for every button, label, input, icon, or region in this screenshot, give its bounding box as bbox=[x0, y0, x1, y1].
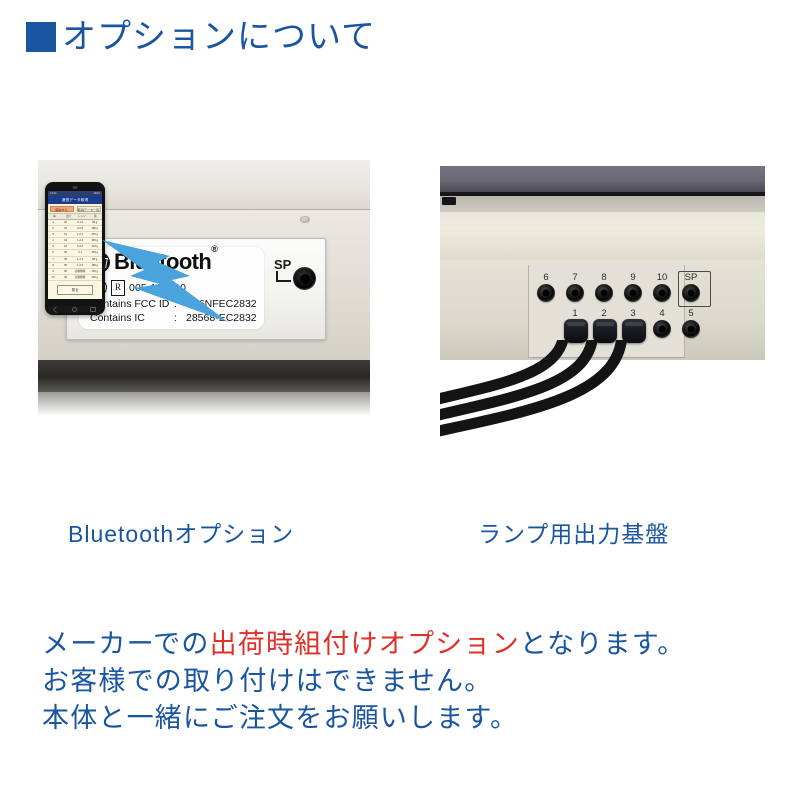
output-board-panel: 6 7 8 9 10 bbox=[528, 265, 685, 358]
phone-table-cell: 0-1.0 bbox=[73, 220, 88, 225]
caption-bluetooth-option: Bluetoothオプション bbox=[68, 515, 294, 549]
jack-7-label: 7 bbox=[564, 273, 586, 283]
jack-3[interactable]: 3 bbox=[622, 309, 644, 343]
phone-table-cell: 166 g bbox=[87, 275, 102, 280]
phone-home-nav-icon[interactable] bbox=[72, 307, 78, 313]
jack-5-hole-icon[interactable] bbox=[682, 320, 700, 338]
phone-table-cell: 自動解除 bbox=[73, 269, 88, 274]
phone-table-cell: 253 g bbox=[87, 250, 102, 255]
sp-jack-icon bbox=[293, 267, 316, 290]
jack-3-label: 3 bbox=[622, 309, 644, 319]
ic-value: 28568-EC2832 bbox=[186, 312, 257, 324]
jack-9-hole-icon[interactable] bbox=[624, 284, 642, 302]
phone-table-cell: 185 g bbox=[87, 263, 102, 268]
jack-8-hole-icon[interactable] bbox=[595, 284, 613, 302]
phone-recents-nav-icon[interactable] bbox=[90, 307, 96, 313]
jack-8-label: 8 bbox=[593, 273, 615, 283]
machine-top-bar bbox=[440, 166, 765, 192]
phone-table-cell: 04 bbox=[58, 226, 73, 231]
phone-table-cell: 自動解除 bbox=[73, 275, 88, 280]
phone-back-nav-icon[interactable] bbox=[53, 306, 59, 312]
phone-table-cell: 366 g bbox=[87, 238, 102, 243]
bluetooth-front-panel: Bluetooth® R 005-103090 Contains FCC ID:… bbox=[66, 238, 326, 340]
note-line-1: メーカーでの出荷時組付けオプションとなります。 bbox=[42, 626, 772, 663]
phone-table-cell: 05 bbox=[58, 250, 73, 255]
jack-6[interactable]: 6 bbox=[535, 273, 557, 302]
phone-table-cell: 2 bbox=[48, 226, 58, 231]
jack-4-hole-icon[interactable] bbox=[653, 320, 671, 338]
bluetooth-wordmark: Bluetooth® bbox=[114, 251, 217, 273]
phone-table-cell: 05 bbox=[58, 257, 73, 262]
jack-6-label: 6 bbox=[535, 273, 557, 283]
note-line-1-emphasis: 出荷時組付けオプション bbox=[210, 629, 520, 659]
lamp-output-board-photo: 6 7 8 9 10 bbox=[440, 160, 765, 460]
phone-table-cell: 1-2.4 bbox=[73, 257, 88, 262]
jack-3-plug-icon[interactable] bbox=[622, 319, 646, 343]
phone-table-row[interactable]: 1005自動解除166 g bbox=[48, 275, 102, 281]
phone-col-date: 日付 bbox=[62, 214, 76, 219]
smartphone-mock: 10:24 100% 通信データ取得 取得する 取得データ一覧 No. 日付 レ… bbox=[45, 182, 105, 315]
phone-table-cell: 95 g bbox=[87, 220, 102, 225]
phone-battery: 100% bbox=[93, 191, 100, 196]
phone-table-cell: 0-4.4 bbox=[73, 244, 88, 249]
jack-6-hole-icon[interactable] bbox=[537, 284, 555, 302]
lamp-scene: 6 7 8 9 10 bbox=[440, 160, 765, 460]
ic-key: Contains IC bbox=[90, 311, 174, 325]
heading-square-marker-icon bbox=[26, 22, 56, 52]
jack-9[interactable]: 9 bbox=[622, 273, 644, 302]
floor-fade bbox=[38, 392, 370, 416]
machine-side-slot-icon bbox=[442, 197, 456, 205]
note-line-1-pre: メーカーでの bbox=[42, 629, 210, 659]
phone-tab-bar: 取得する 取得データ一覧 bbox=[48, 204, 102, 214]
phone-table-cell: 04 bbox=[58, 232, 73, 237]
phone-col-value: 値 bbox=[89, 214, 103, 219]
jack-row-bottom: 1 2 3 4 5 bbox=[564, 309, 702, 343]
phone-table-cell: 6 bbox=[48, 250, 58, 255]
registered-mark: ® bbox=[211, 244, 217, 254]
cabinet-screw-icon bbox=[300, 216, 310, 223]
phone-table-cell: 150 g bbox=[87, 269, 102, 274]
note-line-3: 本体と一緒にご注文をお願いします。 bbox=[42, 700, 772, 737]
jack-5-label: 5 bbox=[680, 309, 702, 319]
fcc-id-value: 2A6NFEC2832 bbox=[186, 298, 257, 310]
phone-table-cell: 7 bbox=[48, 257, 58, 262]
bluetooth-sp-label: SP bbox=[274, 257, 291, 272]
phone-table-cell: 05 bbox=[58, 263, 73, 268]
phone-app-title: 通信データ取得 bbox=[48, 196, 102, 204]
jack-2[interactable]: 2 bbox=[593, 309, 615, 343]
fcc-ic-block: Contains FCC ID:2A6NFEC2832 Contains IC:… bbox=[90, 297, 257, 325]
phone-table-cell: 3 bbox=[48, 232, 58, 237]
fcc-id-colon: : bbox=[174, 297, 186, 311]
jack-7[interactable]: 7 bbox=[564, 273, 586, 302]
machine-gap-band bbox=[440, 196, 765, 212]
phone-table-cell: 8 bbox=[48, 263, 58, 268]
jack-7-hole-icon[interactable] bbox=[566, 284, 584, 302]
phone-speaker-icon bbox=[73, 186, 78, 189]
jack-2-plug-icon[interactable] bbox=[593, 319, 617, 343]
note-line-2: お客様での取り付けはできません。 bbox=[42, 663, 772, 700]
ic-line: Contains IC:28568-EC2832 bbox=[90, 311, 257, 325]
page-title: オプションについて bbox=[62, 20, 376, 54]
bluetooth-logo-line: Bluetooth® bbox=[89, 251, 217, 273]
photo-row: Bluetooth® R 005-103090 Contains FCC ID:… bbox=[0, 155, 800, 485]
phone-table-cell: 05 bbox=[58, 275, 73, 280]
phone-table-cell: 235 g bbox=[87, 232, 102, 237]
certification-number: 005-103090 bbox=[129, 282, 186, 294]
jack-10-hole-icon[interactable] bbox=[653, 284, 671, 302]
ic-colon: : bbox=[174, 311, 186, 325]
phone-table-cell: 2-1 bbox=[73, 250, 88, 255]
r-mark-icon: R bbox=[111, 280, 125, 296]
jack-10-label: 10 bbox=[651, 273, 673, 283]
jack-5[interactable]: 5 bbox=[680, 309, 702, 343]
phone-table-cell: 88 g bbox=[87, 257, 102, 262]
phone-tab-acquire[interactable]: 取得する bbox=[50, 206, 74, 212]
jack-4-label: 4 bbox=[651, 309, 673, 319]
phone-table-cell: 05 bbox=[58, 269, 73, 274]
phone-table-cell: 0-2.0 bbox=[73, 226, 88, 231]
phone-clock: 10:24 bbox=[50, 191, 57, 196]
phone-table-cell: 1-2.5 bbox=[73, 263, 88, 268]
phone-table-cell: 10 bbox=[48, 275, 58, 280]
bluetooth-certification-sticker: Bluetooth® R 005-103090 Contains FCC ID:… bbox=[79, 247, 264, 329]
machine-front-rail bbox=[440, 212, 765, 261]
jack-4[interactable]: 4 bbox=[651, 309, 673, 343]
jack-8[interactable]: 8 bbox=[593, 273, 615, 302]
jack-9-label: 9 bbox=[622, 273, 644, 283]
jack-row-top: 6 7 8 9 10 bbox=[535, 273, 702, 302]
sp-bracket-icon bbox=[276, 271, 291, 282]
page-heading: オプションについて bbox=[26, 20, 376, 54]
jack-2-label: 2 bbox=[593, 309, 615, 319]
phone-table-cell: 1-2.4 bbox=[73, 238, 88, 243]
jack-1-plug-icon[interactable] bbox=[564, 319, 588, 343]
phone-table-cell: 5 bbox=[48, 244, 58, 249]
bluetooth-scene: Bluetooth® R 005-103090 Contains FCC ID:… bbox=[38, 160, 370, 440]
phone-table-cell: 144 g bbox=[87, 244, 102, 249]
phone-table-cell: 1-0.4 bbox=[73, 232, 88, 237]
phone-table-cell: 186 g bbox=[87, 226, 102, 231]
caption-lamp-output-board: ランプ用出力基盤 bbox=[478, 515, 669, 549]
phone-tab-list[interactable]: 取得データ一覧 bbox=[77, 206, 101, 212]
sp-group-outline bbox=[678, 271, 711, 307]
phone-table-cell: 04 bbox=[58, 244, 73, 249]
phone-table-cell: 1 bbox=[48, 220, 58, 225]
phone-table-cell: 9 bbox=[48, 269, 58, 274]
notes-block: メーカーでの出荷時組付けオプションとなります。 お客様での取り付けはできません。… bbox=[42, 626, 772, 737]
jack-1-label: 1 bbox=[564, 309, 586, 319]
jack-1[interactable]: 1 bbox=[564, 309, 586, 343]
phone-col-range: レンジ bbox=[75, 214, 89, 219]
fcc-id-line: Contains FCC ID:2A6NFEC2832 bbox=[90, 297, 257, 311]
phone-table-cell: 04 bbox=[58, 220, 73, 225]
phone-col-no: No. bbox=[48, 214, 62, 219]
phone-screen: 10:24 100% 通信データ取得 取得する 取得データ一覧 No. 日付 レ… bbox=[48, 191, 102, 299]
phone-nav-bar bbox=[48, 306, 102, 313]
jack-10[interactable]: 10 bbox=[651, 273, 673, 302]
bluetooth-module-photo: Bluetooth® R 005-103090 Contains FCC ID:… bbox=[38, 160, 370, 440]
note-line-1-post: となります。 bbox=[520, 629, 686, 659]
phone-table-cell: 4 bbox=[48, 238, 58, 243]
phone-table-body: 1040-1.095 g2040-2.0186 g3041-0.4235 g40… bbox=[48, 220, 102, 281]
phone-table-cell: 04 bbox=[58, 238, 73, 243]
phone-back-button[interactable]: 戻る bbox=[57, 285, 93, 295]
